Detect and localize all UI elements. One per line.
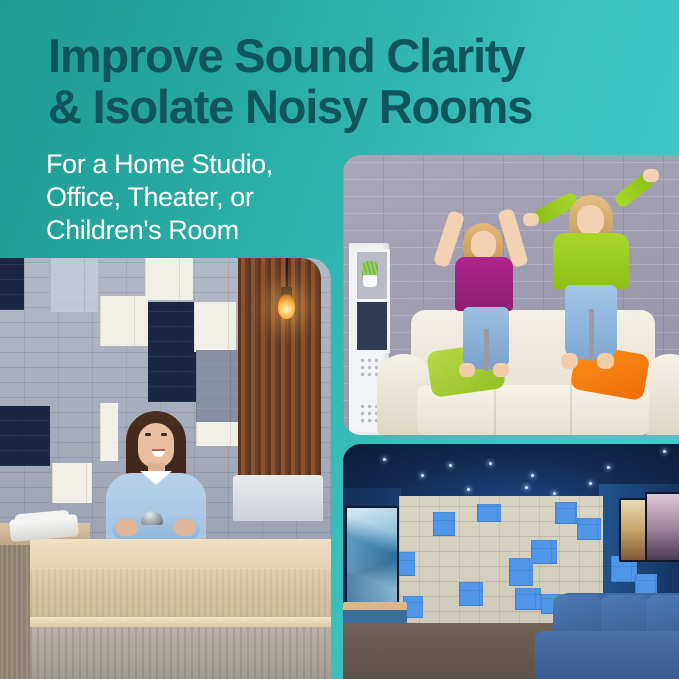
seat-seam [570,383,572,435]
sofa-seat [535,631,679,679]
acoustic-tile [148,302,196,402]
ceiling-star [663,450,666,453]
headline-line-1: Improve Sound Clarity [48,30,648,81]
hand-right [643,169,659,182]
green-top [553,233,629,289]
monitor [233,475,323,521]
ceiling-star [467,488,470,491]
hand-left [523,213,539,226]
reception-desk [0,523,331,679]
subhead-line-3: Children's Room [46,214,366,247]
acoustic-tile [52,463,92,503]
face [138,423,174,468]
foot-left [561,353,578,369]
foot-right [493,363,509,377]
acoustic-tile-blue [531,540,557,564]
acoustic-tile [0,406,50,466]
acoustic-tile-blue [433,512,455,536]
photo-home-theater [343,444,679,679]
foot-left [459,363,475,377]
leg-gap [484,329,489,371]
face [577,205,604,235]
page-title: Improve Sound Clarity & Isolate Noisy Ro… [48,30,648,132]
ceiling-star [383,458,386,461]
acoustic-tile-blue [477,504,501,522]
ceiling-star [449,464,452,467]
acoustic-tile [50,258,98,312]
desk-mid-trim [30,617,331,627]
acoustic-tile [0,258,24,310]
desk-counter-top [30,539,331,569]
ceiling-star [525,486,528,489]
acoustic-tile-blue [577,518,601,540]
wood-slat-wall [238,258,321,490]
acoustic-tile [100,296,148,346]
ceiling-star [421,474,424,477]
headline-line-2: & Isolate Noisy Rooms [48,81,648,132]
desk-front-panel [30,569,331,617]
acoustic-tile-blue [509,558,533,586]
leg-gap [589,309,594,361]
acoustic-tile [194,302,236,352]
blue-sectional-sofa [535,591,679,679]
pink-top [455,257,513,311]
ceiling-star [531,474,534,477]
light-bulb-icon [278,294,295,319]
page-subtitle: For a Home Studio, Office, Theater, or C… [46,148,366,247]
ceiling-star [607,466,610,469]
ceiling-star [489,462,492,465]
acoustic-tile-blue [397,552,415,576]
desk-lower-panel [30,627,331,679]
desk-left-side [0,545,34,679]
wall-tv [345,506,399,608]
child-figure-green [539,179,651,387]
subhead-line-2: Office, Theater, or [46,181,366,214]
product-banner: Improve Sound Clarity & Isolate Noisy Ro… [0,0,679,679]
face [471,231,496,259]
movie-poster [645,492,679,562]
acoustic-tile [145,258,193,300]
photo-office-reception [0,258,331,679]
acoustic-tile-blue [555,502,577,524]
ceiling-star [553,492,556,495]
ceiling-star [589,482,592,485]
acoustic-tile-blue [459,582,483,606]
eye-right [161,433,167,436]
foot-right [597,353,614,369]
subhead-line-1: For a Home Studio, [46,148,366,181]
seat-seam [494,383,496,435]
child-figure-pink [439,203,529,383]
plant-pot [363,275,377,287]
eye-left [145,433,151,436]
photo-children-room [343,155,679,435]
